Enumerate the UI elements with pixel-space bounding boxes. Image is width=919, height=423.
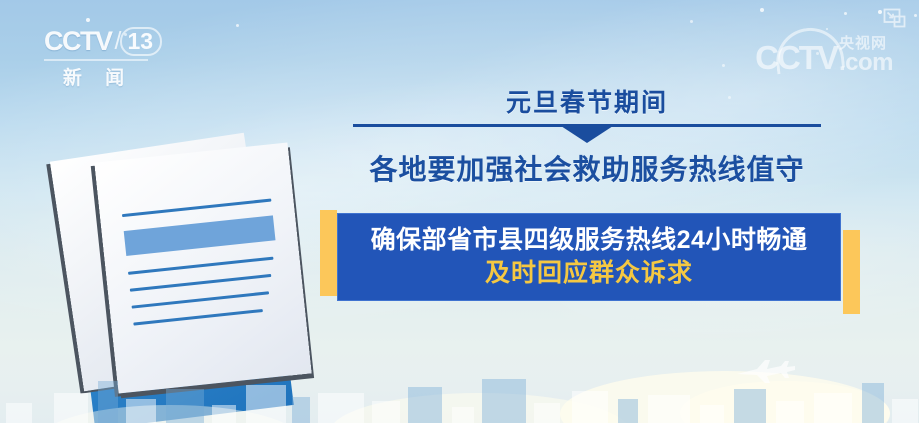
skyline-building (862, 383, 884, 423)
skyline-building (534, 403, 560, 423)
document-text-lines (122, 199, 284, 340)
document-stack-illustration (48, 128, 328, 398)
sparkle-dot (914, 14, 917, 17)
skyline-building (6, 403, 32, 423)
callout-banner-box: 确保部省市县四级服务热线24小时畅通 及时回应群众诉求 (337, 213, 841, 301)
skyline-building (452, 407, 474, 423)
sparkle-dot (760, 8, 764, 12)
skyline-building (892, 399, 918, 423)
cctv-brand-text: CCTV (44, 26, 112, 57)
logo-underline (44, 59, 148, 61)
skyline-building (408, 387, 442, 423)
document-line (133, 309, 263, 326)
document-line (128, 257, 274, 275)
skyline-building (776, 401, 804, 423)
headline-divider (337, 124, 837, 146)
sparkle-dot (878, 10, 882, 14)
headline-subhead: 各地要加强社会救助服务热线值守 (337, 153, 837, 187)
document-line (132, 291, 270, 308)
watermark-domain-text: .com (839, 52, 893, 73)
watermark-brand-text: CCTV (755, 43, 837, 73)
cloud-shape (680, 381, 890, 423)
cloud-shape (330, 393, 630, 423)
skyline-building (572, 391, 608, 423)
headline-kicker: 元旦春节期间 (337, 88, 837, 118)
divider-down-arrow-icon (561, 126, 613, 143)
skyline-building (482, 379, 526, 423)
sparkle-dot (844, 12, 847, 15)
cctv13-channel-logo: CCTV / 13 新 闻 (44, 24, 184, 86)
document-line (122, 199, 271, 218)
sparkle-dot (86, 18, 90, 22)
channel-subtitle: 新 闻 (44, 63, 152, 90)
skyline-building (618, 399, 638, 423)
sparkle-dot (236, 24, 239, 27)
document-line (130, 274, 272, 292)
airplane-icon (735, 358, 797, 384)
banner-secondary-text: 及时回应群众诉求 (485, 258, 693, 289)
headline-block: 元旦春节期间 各地要加强社会救助服务热线值守 (337, 88, 837, 187)
channel-number: 13 (120, 27, 162, 56)
document-sheet-front (94, 142, 311, 393)
accent-bar-left (320, 210, 337, 296)
skyline-building (700, 405, 724, 423)
callout-banner: 确保部省市县四级服务热线24小时畅通 及时回应群众诉求 (320, 206, 860, 310)
cloud-shape (560, 371, 890, 423)
skyline-building (648, 395, 690, 423)
banner-primary-text: 确保部省市县四级服务热线24小时畅通 (371, 225, 808, 256)
cctv-com-watermark: CCTV 央视网 .com (755, 36, 893, 73)
skyline-building (292, 397, 310, 423)
news-graphic-frame: CCTV / 13 新 闻 CCTV 央视网 .com (0, 0, 919, 423)
accent-bar-right (843, 230, 860, 314)
skyline-building (372, 401, 400, 423)
sparkle-dot (826, 28, 828, 30)
document-highlight-bar (124, 215, 276, 256)
sparkle-dot (722, 64, 725, 67)
skyline-building (734, 389, 766, 423)
restore-window-icon[interactable] (883, 8, 907, 29)
skyline-building (814, 393, 852, 423)
sparkle-dot (690, 20, 693, 23)
